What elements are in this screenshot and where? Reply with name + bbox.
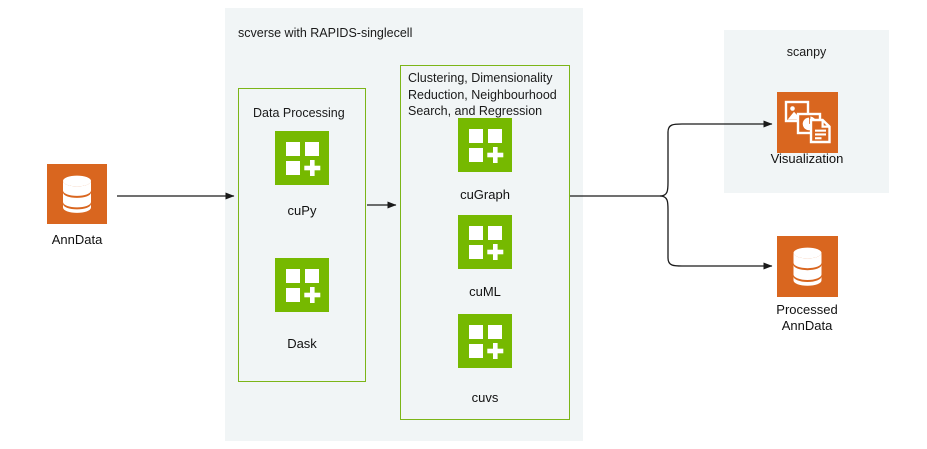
node-dask[interactable]	[275, 258, 329, 312]
rapids-grid-plus-icon	[275, 258, 329, 312]
connector-clustering-to-processed-anndata	[660, 196, 772, 266]
node-cuml[interactable]	[458, 215, 512, 269]
node-cuvs[interactable]	[458, 314, 512, 368]
node-visualization-label: Visualization	[727, 151, 887, 167]
rapids-grid-plus-icon	[275, 131, 329, 185]
clustering-caption-line-2: Reduction, Neighbourhood	[408, 87, 564, 104]
rapids-grid-plus-icon	[458, 215, 512, 269]
node-cugraph-label: cuGraph	[405, 187, 565, 203]
charts-images-icon	[777, 92, 838, 153]
database-icon	[47, 164, 107, 224]
clustering-box-caption: Clustering, Dimensionality Reduction, Ne…	[408, 70, 564, 120]
node-cupy[interactable]	[275, 131, 329, 185]
node-anndata[interactable]	[47, 164, 107, 224]
scanpy-panel-title: scanpy	[724, 44, 889, 60]
node-cuvs-label: cuvs	[405, 390, 565, 406]
data-processing-box-caption: Data Processing	[253, 105, 345, 122]
scverse-panel-title: scverse with RAPIDS-singlecell	[238, 25, 412, 41]
node-visualization[interactable]	[777, 92, 838, 153]
node-processed-anndata-label: Processed AnnData	[727, 302, 887, 335]
node-anndata-label: AnnData	[0, 232, 157, 248]
node-cupy-label: cuPy	[222, 203, 382, 219]
node-cugraph[interactable]	[458, 118, 512, 172]
rapids-grid-plus-icon	[458, 314, 512, 368]
node-processed-anndata[interactable]	[777, 236, 838, 297]
rapids-grid-plus-icon	[458, 118, 512, 172]
clustering-caption-line-1: Clustering, Dimensionality	[408, 70, 564, 87]
node-dask-label: Dask	[222, 336, 382, 352]
node-cuml-label: cuML	[405, 284, 565, 300]
database-icon	[777, 236, 838, 297]
diagram-canvas: scverse with RAPIDS-singlecell scanpy Da…	[0, 0, 927, 449]
